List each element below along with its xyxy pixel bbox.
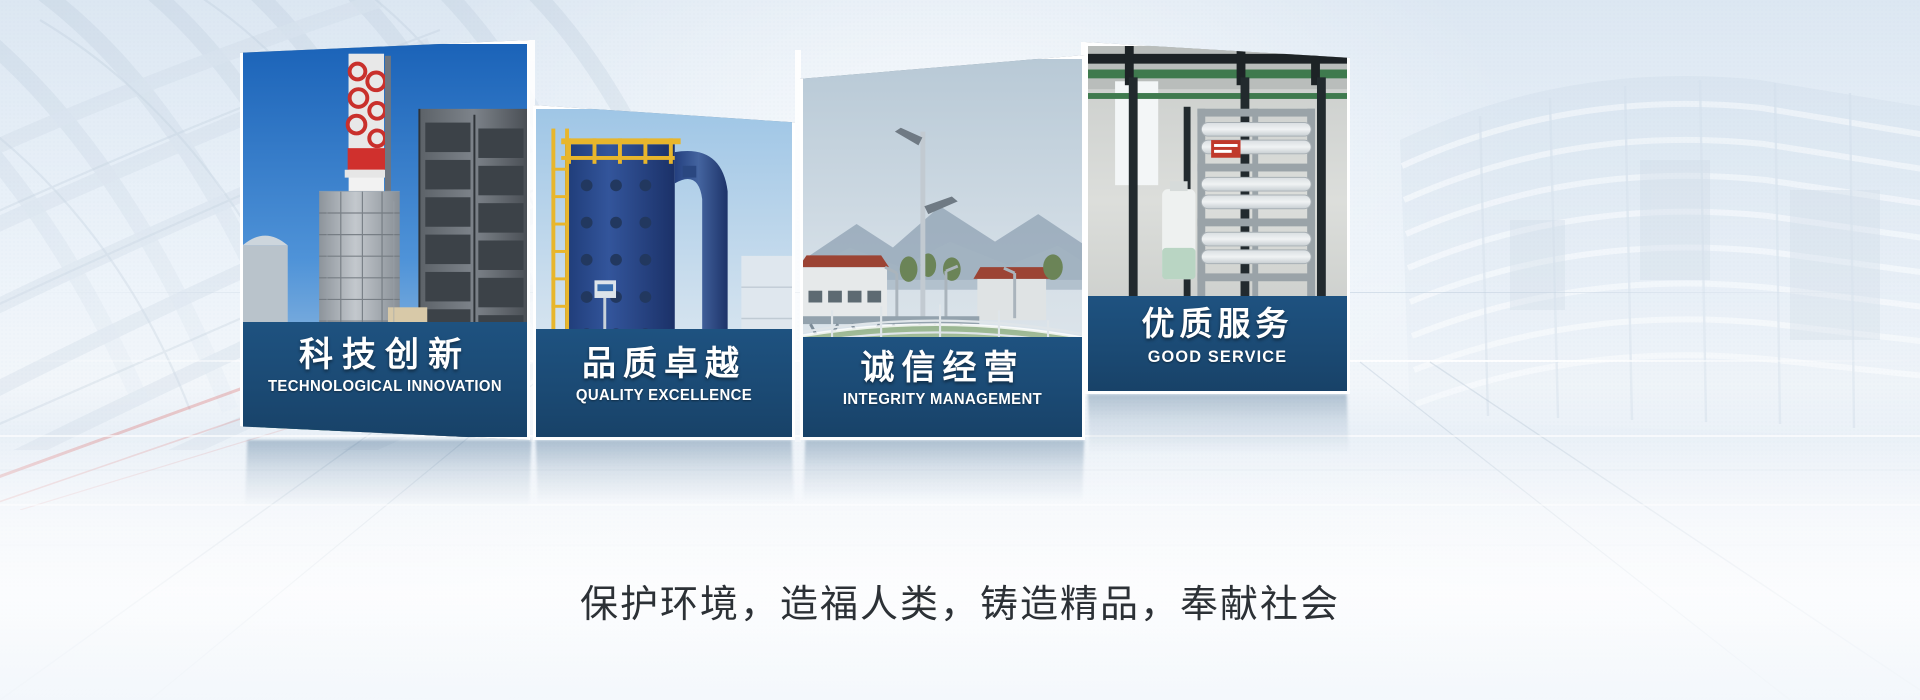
card-caption: 科技创新 TECHNOLOGICAL INNOVATION bbox=[243, 322, 527, 437]
card-title-en: TECHNOLOGICAL INNOVATION bbox=[254, 378, 515, 396]
card-caption: 优质服务 GOOD SERVICE bbox=[1088, 296, 1347, 391]
banner-tagline: 保护环境，造福人类，铸造精品，奉献社会 bbox=[0, 573, 1920, 628]
feature-card-quality-excellence[interactable]: 品质卓越 QUALITY EXCELLENCE bbox=[533, 105, 795, 440]
card-title-en: QUALITY EXCELLENCE bbox=[547, 387, 781, 405]
card-title-en: INTEGRITY MANAGEMENT bbox=[814, 391, 1070, 409]
card-title-cn: 优质服务 bbox=[1094, 306, 1341, 343]
card-title-cn: 品质卓越 bbox=[542, 345, 786, 383]
card-title-en: GOOD SERVICE bbox=[1099, 347, 1336, 367]
feature-card-good-service[interactable]: 优质服务 GOOD SERVICE bbox=[1085, 42, 1350, 394]
card-caption: 品质卓越 QUALITY EXCELLENCE bbox=[536, 329, 792, 437]
feature-card-technological-innovation[interactable]: 科技创新 TECHNOLOGICAL INNOVATION bbox=[240, 40, 530, 440]
card-title-cn: 科技创新 bbox=[249, 336, 521, 374]
feature-card-integrity-management[interactable]: 诚信经营 INTEGRITY MANAGEMENT bbox=[800, 55, 1085, 440]
hero-banner: 科技创新 TECHNOLOGICAL INNOVATION bbox=[0, 0, 1920, 700]
card-title-cn: 诚信经营 bbox=[809, 349, 1076, 387]
card-caption: 诚信经营 INTEGRITY MANAGEMENT bbox=[803, 337, 1082, 437]
